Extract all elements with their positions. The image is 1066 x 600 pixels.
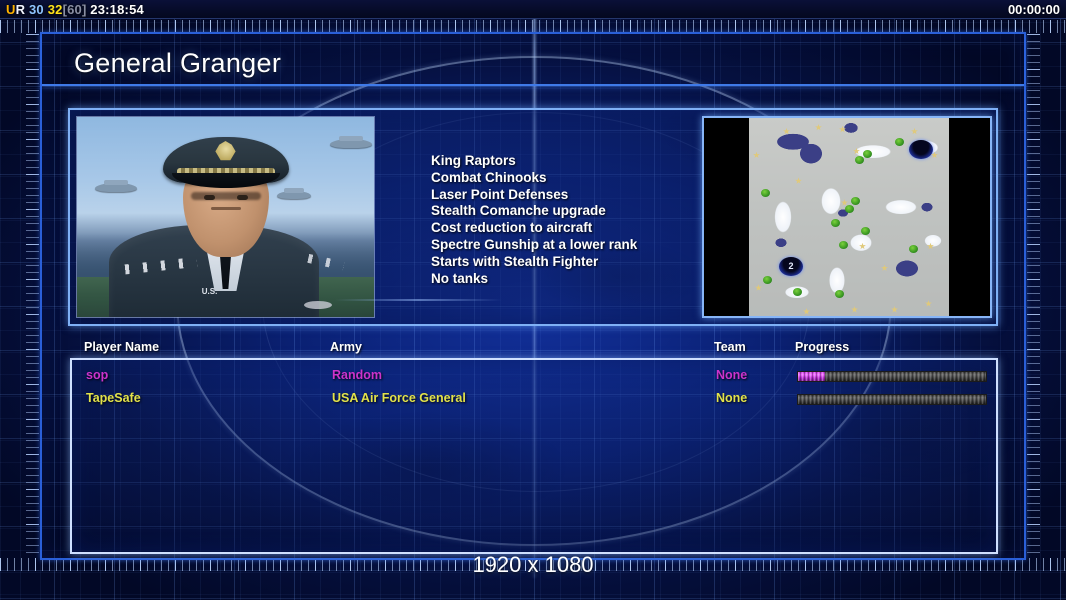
- match-timer: 00:00:00: [1008, 2, 1060, 17]
- map-tree-icon: [855, 156, 864, 164]
- perf-fps-current: 30: [29, 2, 44, 17]
- map-terrain: 2: [749, 118, 949, 316]
- player-army[interactable]: USA Air Force General: [332, 391, 466, 405]
- ability-item: Cost reduction to aircraft: [431, 220, 637, 237]
- map-tree-icon: [793, 288, 802, 296]
- map-spawn-point: [909, 140, 933, 159]
- ability-item: Spectre Gunship at a lower rank: [431, 237, 637, 254]
- ability-item: Laser Point Defenses: [431, 187, 637, 204]
- map-tree-icon: [851, 197, 860, 205]
- aircraft-icon: [277, 191, 311, 199]
- portrait-eye-left: [204, 195, 215, 200]
- map-supply-icon: [803, 308, 810, 315]
- map-tree-icon: [895, 138, 904, 146]
- map-supply-icon: [839, 126, 846, 133]
- ability-item: Stealth Comanche upgrade: [431, 203, 637, 220]
- map-tree-icon: [763, 276, 772, 284]
- map-preview: 2: [702, 116, 992, 318]
- map-tree-icon: [761, 189, 770, 197]
- map-supply-icon: [795, 177, 802, 184]
- map-tree-icon: [909, 245, 918, 253]
- performance-readout: UR 30 32[60] 23:18:54: [6, 2, 144, 17]
- map-supply-icon: [755, 284, 762, 291]
- ability-item: No tanks: [431, 271, 637, 288]
- top-status-bar: UR 30 32[60] 23:18:54 00:00:00: [0, 0, 1066, 19]
- map-supply-icon: [881, 265, 888, 272]
- map-spawn-point: 2: [779, 257, 803, 276]
- resolution-label: 1920 x 1080: [0, 552, 1066, 578]
- map-supply-icon: [859, 243, 866, 250]
- map-tree-icon: [831, 219, 840, 227]
- ability-item: Starts with Stealth Fighter: [431, 254, 637, 271]
- map-tree-icon: [835, 290, 844, 298]
- ruler-right: [1027, 34, 1040, 558]
- uniform-us-label: U.S.: [202, 287, 218, 296]
- player-team[interactable]: None: [716, 391, 747, 405]
- game-lobby-screen: UR 30 32[60] 23:18:54 00:00:00 General G…: [0, 0, 1066, 600]
- map-supply-icon: [783, 128, 790, 135]
- general-portrait: U.S.: [76, 116, 375, 318]
- column-header-team: Team: [714, 340, 746, 354]
- map-supply-icon: [815, 124, 822, 131]
- map-supply-icon: [891, 306, 898, 313]
- table-row[interactable]: TapeSafe USA Air Force General None: [72, 391, 1000, 413]
- map-tree-icon: [845, 205, 854, 213]
- ruler-left: [26, 34, 39, 558]
- aircraft-icon: [95, 183, 137, 192]
- abilities-divider: [335, 299, 502, 301]
- player-progress-bar: [797, 394, 987, 405]
- map-supply-icon: [853, 148, 860, 155]
- map-supply-icon: [927, 243, 934, 250]
- column-header-progress: Progress: [795, 340, 849, 354]
- perf-fps-cap: [60]: [63, 2, 87, 17]
- portrait-eye-right: [237, 195, 248, 200]
- map-tree-icon: [839, 241, 848, 249]
- player-name: TapeSafe: [86, 391, 141, 405]
- page-title: General Granger: [74, 48, 281, 79]
- player-team[interactable]: None: [716, 368, 747, 382]
- perf-clock: 23:18:54: [90, 2, 144, 17]
- progress-track: [797, 394, 987, 405]
- progress-fill: [798, 372, 825, 381]
- progress-track: [797, 371, 987, 382]
- map-tree-icon: [861, 227, 870, 235]
- perf-prefix-u: U: [6, 2, 16, 17]
- table-row[interactable]: sop Random None: [72, 368, 1000, 390]
- perf-prefix-r: R: [16, 2, 26, 17]
- general-abilities-list: King Raptors Combat Chinooks Laser Point…: [431, 153, 637, 287]
- perf-fps-actual: 32: [48, 2, 63, 17]
- map-supply-icon: [753, 152, 760, 159]
- map-supply-icon: [851, 306, 858, 313]
- ability-item: King Raptors: [431, 153, 637, 170]
- portrait-mouth: [211, 207, 241, 210]
- aircraft-icon: [330, 139, 372, 148]
- column-header-player-name: Player Name: [84, 340, 159, 354]
- player-list-panel: sop Random None TapeSafe USA Air Force G…: [70, 358, 998, 554]
- ability-item: Combat Chinooks: [431, 170, 637, 187]
- player-army[interactable]: Random: [332, 368, 382, 382]
- player-name: sop: [86, 368, 108, 382]
- map-tree-icon: [863, 150, 872, 158]
- portrait-brow: [191, 192, 261, 200]
- player-list-headers: Player Name Army Team Progress: [0, 340, 1066, 358]
- player-progress-bar: [797, 371, 987, 382]
- column-header-army: Army: [330, 340, 362, 354]
- map-supply-icon: [911, 128, 918, 135]
- map-supply-icon: [925, 300, 932, 307]
